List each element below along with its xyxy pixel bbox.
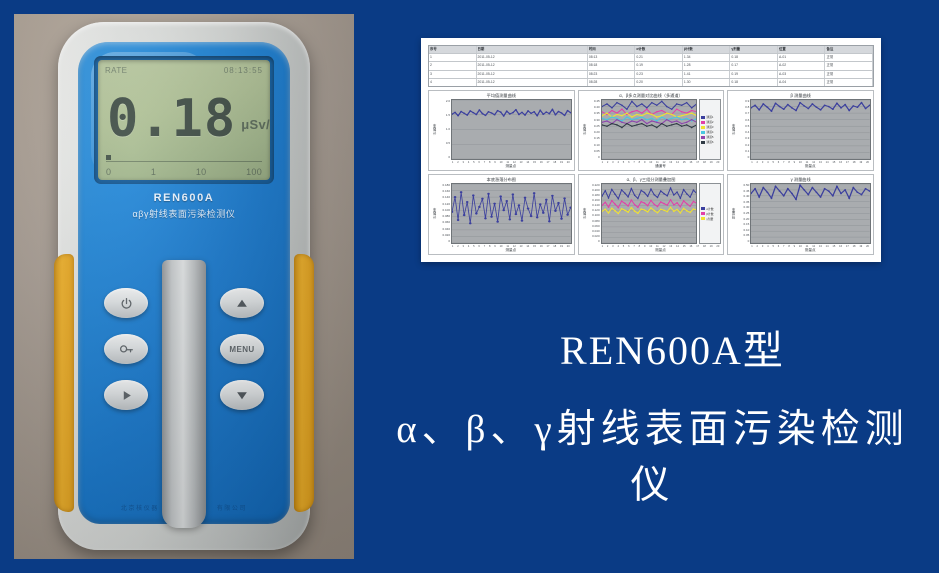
chevron-up-icon (235, 297, 249, 310)
table-cell: 1.41 (683, 71, 731, 78)
chart-y-ticks: 0.500.450.400.350.300.250.200.150.100.05… (737, 183, 750, 244)
chart-cell: α、β、γ三组分测量叠加图计数率0.2200.2000.1800.1600.14… (578, 174, 725, 255)
table-cell: 0.19 (730, 71, 778, 78)
chart-y-tick: 0.20 (594, 130, 600, 134)
table-row: 12011-05-1208:130.211.340.18A-01正常 (429, 54, 873, 62)
table-row: 22011-05-1208:180.191.280.17A-02正常 (429, 62, 873, 70)
software-screenshot-panel: 序号日期时间α计数β计数γ剂量位置备注12011-05-1208:130.211… (421, 38, 881, 262)
table-cell: 1.28 (683, 62, 731, 69)
lcd-scale: 0 1 10 100 (106, 165, 262, 178)
table-cell: 正常 (825, 71, 873, 78)
chart-y-axis-label: 计数率 (431, 99, 438, 160)
chart-y-tick: 0.30 (594, 118, 600, 122)
chart-y-tick: 0.020 (442, 233, 450, 237)
chart-y-tick: 0.120 (442, 202, 450, 206)
chart-x-axis-label: 测量点 (581, 248, 722, 253)
table-cell: A-01 (778, 54, 826, 61)
table-header-cell: α计数 (635, 46, 683, 53)
device-subtitle-label: αβγ射线表面污染检测仪 (78, 207, 290, 220)
search-button[interactable] (104, 334, 148, 364)
table-cell: 08:18 (588, 62, 636, 69)
lcd-reading: 0.18 μSv/h (107, 82, 263, 144)
table-cell: 1.30 (683, 79, 731, 86)
chart-y-axis-label: 计数率 (730, 99, 737, 160)
chart-y-tick: 0 (598, 155, 600, 159)
chart-y-tick: 0.10 (743, 228, 749, 232)
product-photo: RATE 08:13:55 0.18 μSv/h 0 1 10 100 (14, 14, 354, 559)
power-button[interactable] (104, 288, 148, 318)
chart-y-tick: 0.30 (743, 205, 749, 209)
lcd-time-label: 08:13:55 (224, 66, 263, 75)
chart-y-ticks: 0.2200.2000.1800.1600.1400.1200.1000.080… (588, 183, 601, 244)
table-cell: 0.23 (635, 71, 683, 78)
chart-x-axis-label: 测量点 (730, 164, 871, 169)
chart-y-axis-label: 计数率 (581, 183, 588, 244)
table-cell: 08:23 (588, 71, 636, 78)
table-cell: 2011-05-12 (477, 54, 588, 61)
chart-legend-swatch (701, 126, 705, 129)
table-cell: A-03 (778, 71, 826, 78)
table-cell: 08:13 (588, 54, 636, 61)
chart-y-tick: 0.8 (745, 105, 749, 109)
device-footer-left: 北京核仪器 (121, 503, 159, 512)
chart-y-axis-label: 计数率 (431, 183, 438, 244)
menu-button[interactable]: MENU (220, 334, 264, 364)
chart-y-tick: 0.040 (442, 227, 450, 231)
menu-button-label: MENU (229, 345, 254, 354)
chart-y-ticks: 0.90.80.70.60.50.40.30.20.10 (737, 99, 750, 160)
product-title: α、β、γ射线表面污染检测仪 (380, 398, 925, 510)
chart-legend-swatch (701, 131, 705, 134)
chart-y-tick: 2.0 (446, 99, 450, 103)
down-button[interactable] (220, 380, 264, 410)
title-block: REN600A型 α、β、γ射线表面污染检测仪 (380, 318, 925, 510)
chart-y-tick: 0.25 (594, 124, 600, 128)
chart-legend-label: 通道5 (706, 135, 713, 139)
chart-y-tick: 0.140 (442, 195, 450, 199)
chart-grid: 平均值测量曲线计数率2.01.51.00.5012345678910111213… (428, 90, 874, 255)
table-cell: 3 (429, 71, 477, 78)
table-cell: A-04 (778, 79, 826, 86)
chart-y-tick: 0.35 (743, 200, 749, 204)
chart-legend-item: 通道3 (701, 125, 719, 129)
device-branding: REN600A αβγ射线表面污染检测仪 (78, 192, 290, 220)
chart-legend-label: 通道3 (706, 125, 713, 129)
chart-y-tick: 0.3 (745, 136, 749, 140)
chart-legend-item: 通道2 (701, 120, 719, 124)
chevron-down-icon (235, 389, 249, 402)
lcd-mode-label: RATE (105, 66, 127, 75)
chart-y-tick: 0.180 (442, 183, 450, 187)
chart-legend-label: 通道4 (706, 130, 713, 134)
chart-y-ticks: 2.01.51.00.50 (438, 99, 451, 160)
chart-y-tick: 0.20 (743, 217, 749, 221)
chart-x-axis-label: 测量点 (431, 164, 572, 169)
chart-y-tick: 0.160 (442, 189, 450, 193)
chart-legend-item: γ剂量 (701, 217, 719, 221)
chart-y-tick: 0.10 (594, 143, 600, 147)
table-cell: 0.21 (635, 54, 683, 61)
chart-y-tick: 0.1 (745, 149, 749, 153)
lcd-scale-tick: 100 (246, 167, 262, 177)
device-footer-right: 有限公司 (217, 503, 247, 512)
chart-y-tick: 0.40 (594, 105, 600, 109)
chart-y-tick: 0.020 (592, 234, 600, 238)
chart-cell: γ 测量曲线剂量率0.500.450.400.350.300.250.200.1… (727, 174, 874, 255)
lcd-value: 0.18 (107, 94, 236, 144)
table-row: 32011-05-1208:230.231.410.19A-03正常 (429, 71, 873, 79)
lcd-unit: μSv/h (241, 117, 270, 132)
chart-y-tick: 0.5 (745, 124, 749, 128)
chart-x-axis-label: 通道号 (581, 164, 722, 169)
table-header-cell: 备注 (825, 46, 873, 53)
table-cell: 2011-05-12 (477, 62, 588, 69)
chart-plot-area (601, 183, 698, 244)
chart-legend-swatch (701, 141, 705, 144)
chart-legend-item: 通道4 (701, 130, 719, 134)
chart-legend-item: α计数 (701, 207, 719, 211)
table-cell: 08:28 (588, 79, 636, 86)
table-header-row: 序号日期时间α计数β计数γ剂量位置备注 (429, 46, 873, 54)
chart-y-tick: 0 (748, 239, 750, 243)
device-model-label: REN600A (78, 192, 290, 204)
chart-legend-swatch (701, 212, 705, 215)
chart-cell: α、β多点测量对比曲线（多通道）计数率0.450.400.350.300.250… (578, 90, 725, 171)
lcd-screen: RATE 08:13:55 0.18 μSv/h 0 1 10 100 (98, 60, 270, 180)
table-cell: 4 (429, 79, 477, 86)
chart-y-tick: 0.15 (743, 222, 749, 226)
chart-y-tick: 0.060 (442, 220, 450, 224)
lcd-bezel: RATE 08:13:55 0.18 μSv/h 0 1 10 100 (94, 56, 274, 184)
chart-legend-swatch (701, 136, 705, 139)
chart-y-tick: 0 (748, 155, 750, 159)
chart-x-axis-label: 测量点 (431, 248, 572, 253)
chart-y-tick: 0 (598, 239, 600, 243)
table-cell: 2011-05-12 (477, 79, 588, 86)
lcd-bargraph (106, 154, 262, 162)
chart-cell: 平均值测量曲线计数率2.01.51.00.5012345678910111213… (428, 90, 575, 171)
data-table: 序号日期时间α计数β计数γ剂量位置备注12011-05-1208:130.211… (428, 45, 874, 87)
chart-legend-item: 通道5 (701, 135, 719, 139)
chart-y-tick: 0.080 (442, 214, 450, 218)
chart-y-tick: 0.9 (745, 99, 749, 103)
chart-legend-label: 通道6 (706, 140, 713, 144)
table-cell: 0.20 (635, 79, 683, 86)
table-cell: 0.19 (635, 62, 683, 69)
chart-plot-area (451, 99, 572, 160)
chart-legend: 通道1通道2通道3通道4通道5通道6 (699, 99, 721, 160)
detector-device: RATE 08:13:55 0.18 μSv/h 0 1 10 100 (58, 22, 310, 550)
chart-y-tick: 0.2 (745, 143, 749, 147)
chart-y-tick: 1.5 (446, 113, 450, 117)
chart-y-axis-label: 计数率 (581, 99, 588, 160)
chart-y-tick: 1.0 (446, 127, 450, 131)
grip-left (54, 254, 74, 512)
up-button[interactable] (220, 288, 264, 318)
table-cell: 0.17 (730, 62, 778, 69)
chart-y-ticks: 0.1800.1600.1400.1200.1000.0800.0600.040… (438, 183, 451, 244)
table-header-cell: γ剂量 (730, 46, 778, 53)
chart-y-tick: 0.120 (592, 208, 600, 212)
chart-y-tick: 0.080 (592, 219, 600, 223)
chart-plot-area (601, 99, 698, 160)
chart-legend-item: 通道6 (701, 140, 719, 144)
chart-y-tick: 0.25 (743, 211, 749, 215)
table-header-cell: β计数 (683, 46, 731, 53)
chart-y-tick: 0.05 (743, 233, 749, 237)
table-cell: 正常 (825, 62, 873, 69)
chart-y-tick: 0.40 (743, 194, 749, 198)
chart-y-tick: 0.50 (743, 183, 749, 187)
chart-y-axis-label: 剂量率 (730, 183, 737, 244)
chart-y-tick: 0.140 (592, 203, 600, 207)
chart-y-tick: 0.040 (592, 229, 600, 233)
chart-legend: α计数β计数γ剂量 (699, 183, 721, 244)
chart-y-tick: 0 (448, 155, 450, 159)
chart-y-tick: 0.45 (594, 99, 600, 103)
chart-legend-item: 通道1 (701, 115, 719, 119)
table-cell: 1.34 (683, 54, 731, 61)
chart-y-tick: 0.15 (594, 136, 600, 140)
table-cell: 正常 (825, 54, 873, 61)
chart-legend-item: β计数 (701, 212, 719, 216)
chart-legend-swatch (701, 207, 705, 210)
table-cell: 2 (429, 62, 477, 69)
table-cell: 正常 (825, 79, 873, 86)
chart-y-tick: 0.7 (745, 111, 749, 115)
chart-x-axis-label: 测量点 (730, 248, 871, 253)
chart-plot-area (750, 183, 871, 244)
play-icon (120, 389, 133, 402)
chart-y-tick: 0.5 (446, 141, 450, 145)
table-header-cell: 序号 (429, 46, 477, 53)
chart-y-tick: 0.220 (592, 183, 600, 187)
chart-plot-area (451, 183, 572, 244)
table-header-cell: 位置 (778, 46, 826, 53)
slide-canvas: RATE 08:13:55 0.18 μSv/h 0 1 10 100 (0, 0, 939, 573)
chart-y-tick: 0.100 (442, 208, 450, 212)
key-icon (119, 343, 134, 356)
chart-y-ticks: 0.450.400.350.300.250.200.150.100.050 (588, 99, 601, 160)
chart-cell: β 测量曲线计数率0.90.80.70.60.50.40.30.20.10123… (727, 90, 874, 171)
chart-legend-label: γ剂量 (706, 217, 713, 221)
chart-y-tick: 0.6 (745, 118, 749, 122)
chart-y-tick: 0.180 (592, 193, 600, 197)
play-button[interactable] (104, 380, 148, 410)
table-header-cell: 时间 (588, 46, 636, 53)
chart-cell: 本底涨落分布图计数率0.1800.1600.1400.1200.1000.080… (428, 174, 575, 255)
power-icon (120, 297, 133, 310)
model-title: REN600A型 (380, 318, 925, 376)
chart-legend-swatch (701, 121, 705, 124)
table-header-cell: 日期 (477, 46, 588, 53)
chart-legend-label: 通道1 (706, 115, 713, 119)
table-row: 42011-05-1208:280.201.300.18A-04正常 (429, 79, 873, 86)
chart-legend-label: β计数 (706, 212, 713, 216)
chart-y-tick: 0.45 (743, 189, 749, 193)
table-cell: A-02 (778, 62, 826, 69)
chart-legend-swatch (701, 217, 705, 220)
chart-legend-label: α计数 (706, 207, 713, 211)
chart-y-tick: 0.160 (592, 198, 600, 202)
lcd-scale-tick: 0 (106, 167, 111, 177)
lcd-scale-tick: 10 (196, 167, 207, 177)
chart-y-tick: 0.100 (592, 213, 600, 217)
chart-y-tick: 0.35 (594, 111, 600, 115)
hand-strap (162, 260, 206, 528)
table-cell: 1 (429, 54, 477, 61)
chart-plot-area (750, 99, 871, 160)
table-cell: 0.18 (730, 54, 778, 61)
chart-y-tick: 0.4 (745, 130, 749, 134)
lcd-status-row: RATE 08:13:55 (105, 64, 263, 77)
chart-y-tick: 0.05 (594, 149, 600, 153)
chart-legend-label: 通道2 (706, 120, 713, 124)
chart-legend-swatch (701, 116, 705, 119)
grip-right (294, 254, 314, 512)
table-cell: 0.18 (730, 79, 778, 86)
table-cell: 2011-05-12 (477, 71, 588, 78)
chart-y-tick: 0 (448, 239, 450, 243)
chart-y-tick: 0.200 (592, 188, 600, 192)
lcd-scale-tick: 1 (151, 167, 156, 177)
chart-y-tick: 0.060 (592, 224, 600, 228)
